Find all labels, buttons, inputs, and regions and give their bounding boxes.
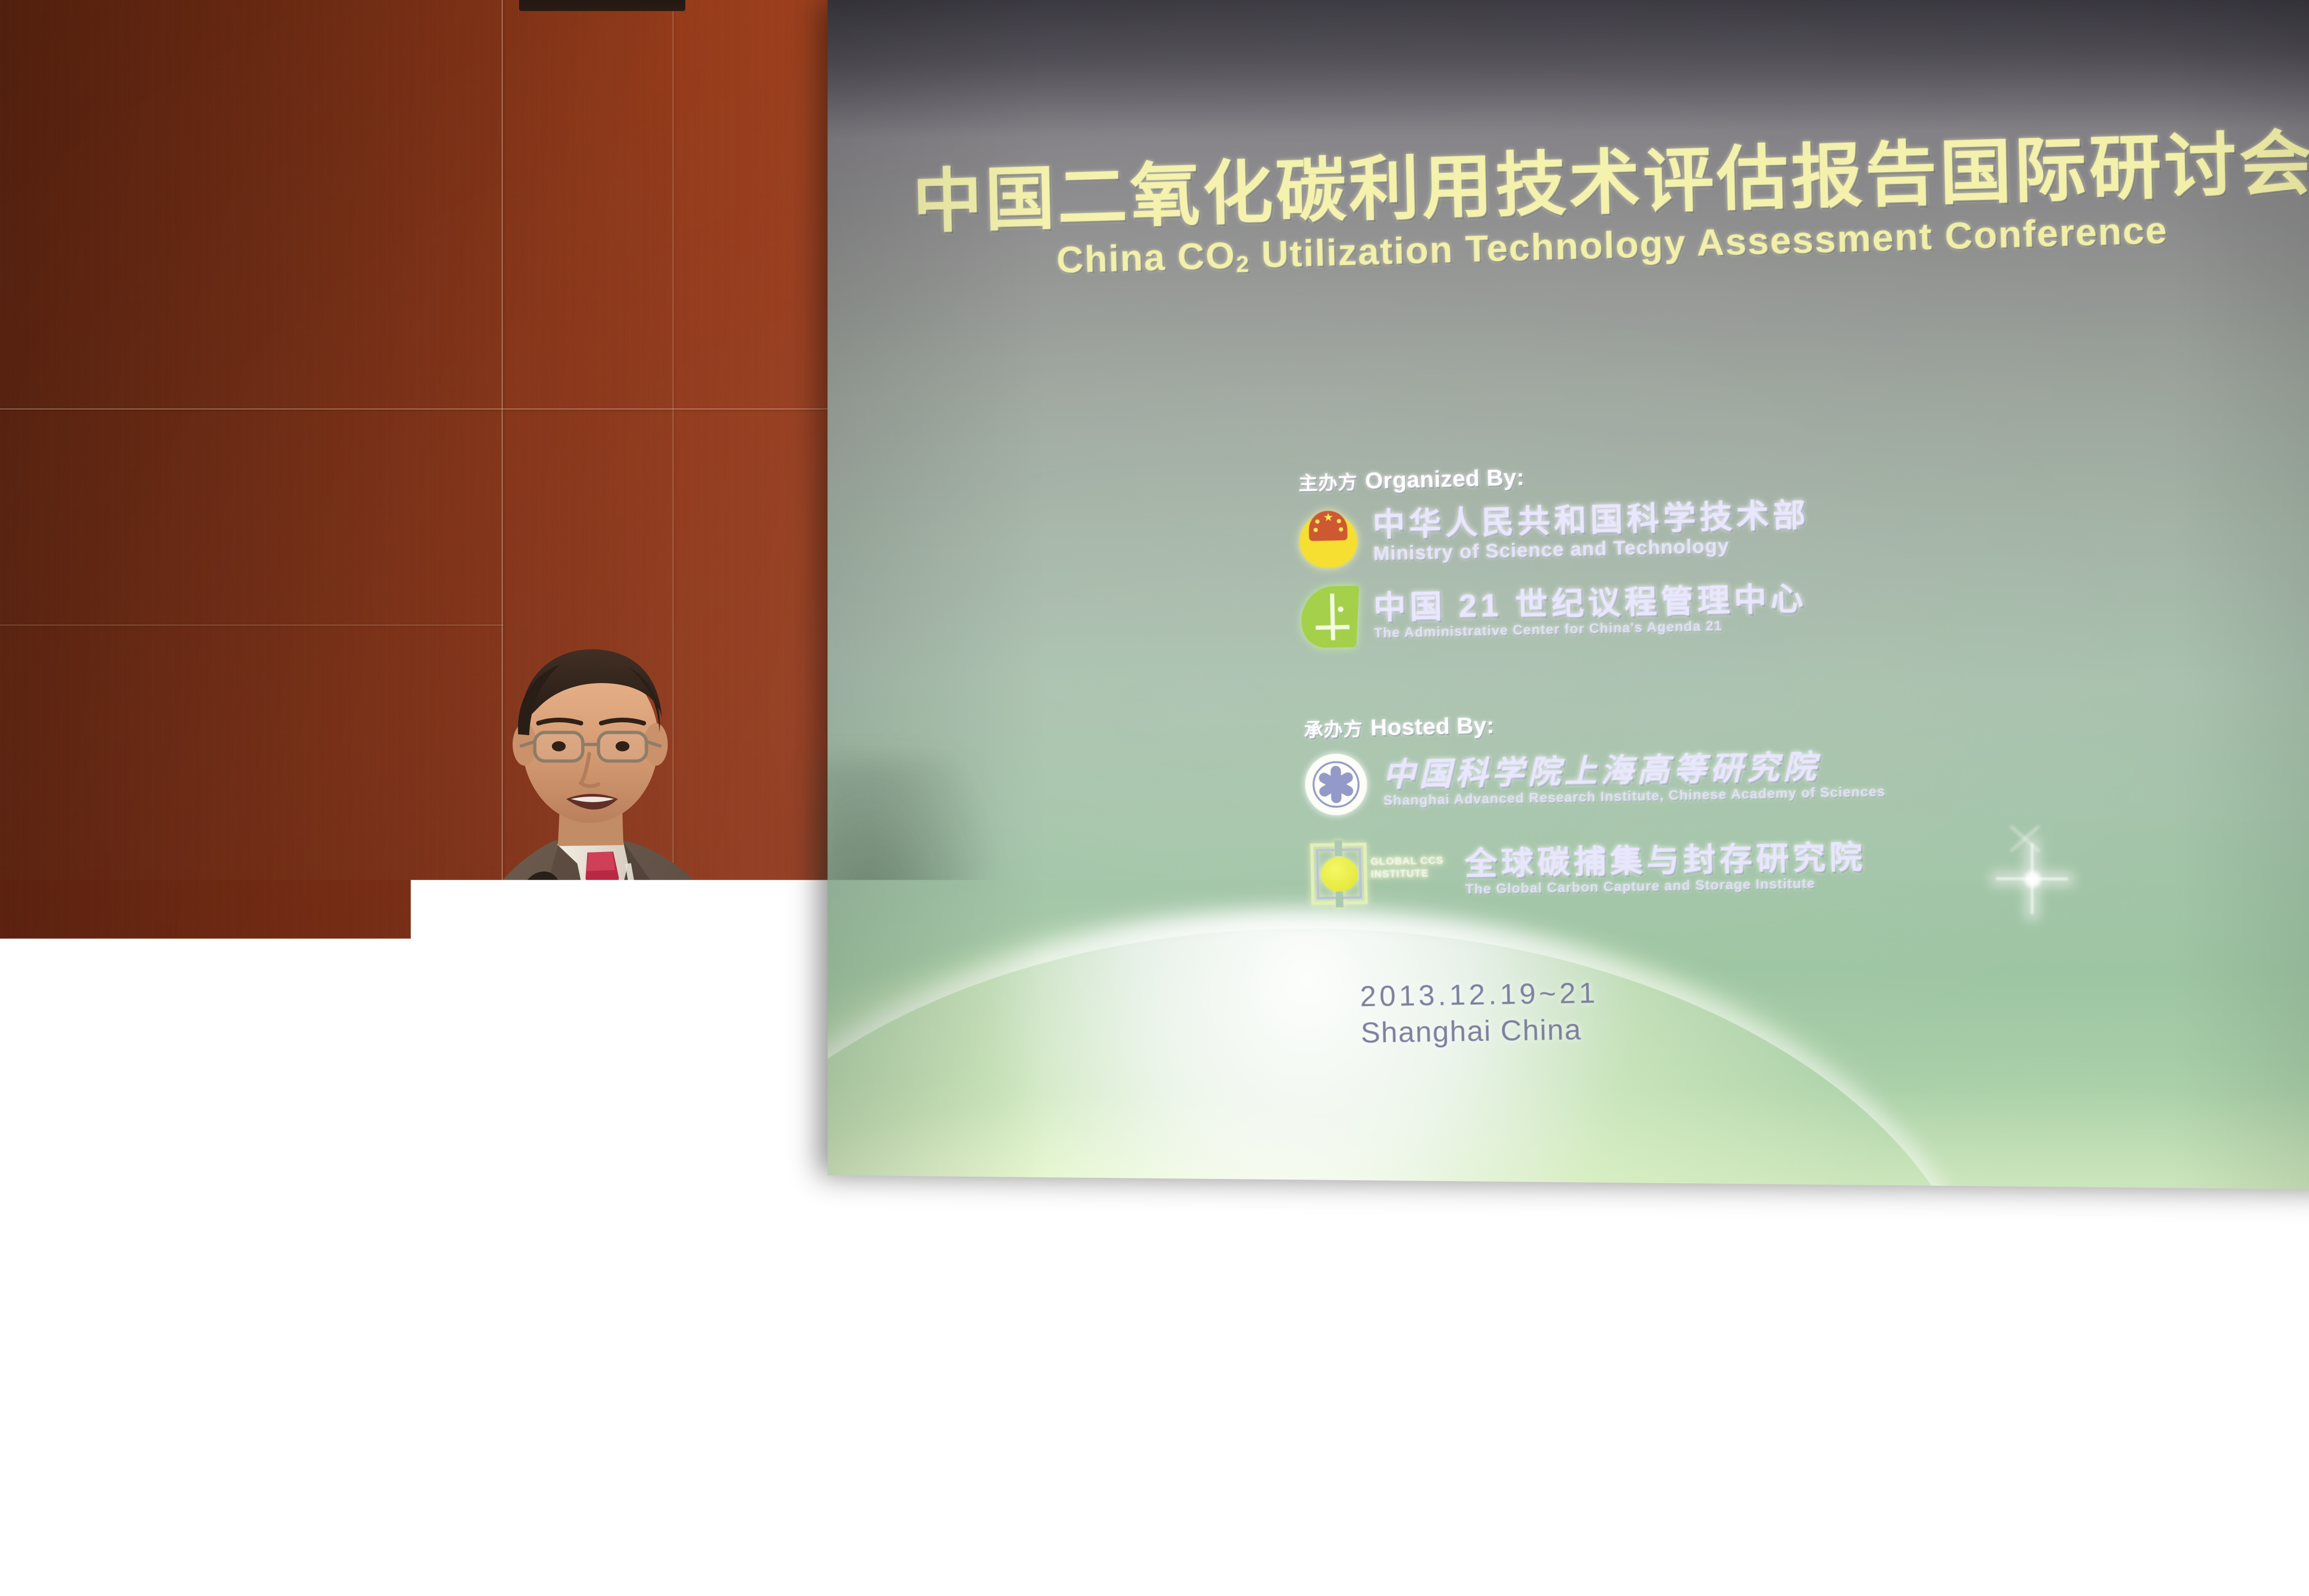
bottle-cap <box>819 973 842 989</box>
wall-seam-horizontal-1 <box>0 408 831 410</box>
bottle-cap <box>874 972 897 987</box>
podium-top-highlight <box>184 1033 923 1042</box>
podium: 中国科学院上海高等研究院 SHANGHAI ADVANCED RESEARCH … <box>181 1034 948 1596</box>
wall-seam-vertical-3 <box>1933 1179 1934 1596</box>
wall-seam-horizontal-2 <box>0 624 503 626</box>
laptop-brand-label: SAMSUNG <box>682 1001 774 1021</box>
svg-text:SHANGHAI ADVANCED RESEARCH INS: SHANGHAI ADVANCED RESEARCH INSTITUTE, CA… <box>476 1433 651 1519</box>
podium-light-sheen <box>320 1140 412 1463</box>
emblem-english-arc-text: SHANGHAI ADVANCED RESEARCH INSTITUTE, CA… <box>457 1325 670 1538</box>
projection-screen: 中国二氧化碳利用技术评估报告国际研讨会 China CO2 Utilizatio… <box>828 0 2309 1191</box>
podium-emblem: 中国科学院上海高等研究院 SHANGHAI ADVANCED RESEARCH … <box>457 1325 670 1538</box>
gooseneck-microphone <box>443 852 545 1046</box>
podium-side-panel <box>798 1093 881 1596</box>
ceiling-av-equipment <box>519 0 685 11</box>
conference-photo: 中国二氧化碳利用技术评估报告国际研讨会 China CO2 Utilizatio… <box>0 0 2309 1596</box>
screen-vignette <box>828 0 2309 1191</box>
podium-top-surface <box>181 1034 948 1089</box>
